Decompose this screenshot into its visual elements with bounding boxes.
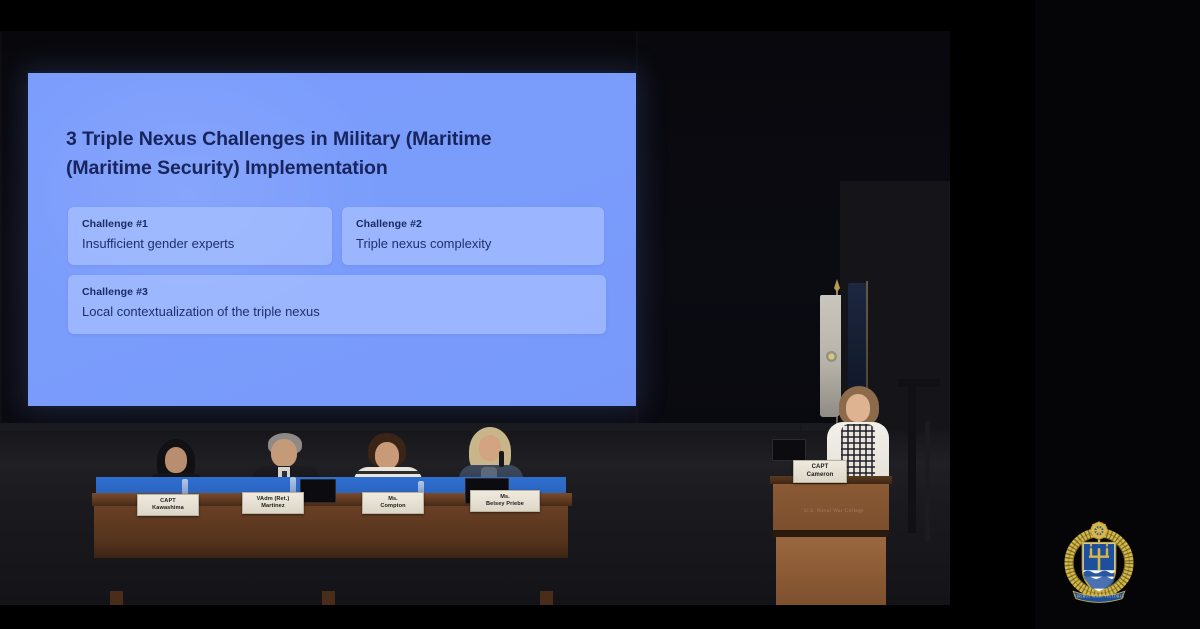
panelist-1-head bbox=[165, 447, 187, 473]
challenge-card-1: Challenge #1 Insufficient gender experts bbox=[68, 207, 332, 265]
nameplate-4-line-2: Belsey Priebe bbox=[473, 501, 537, 508]
presentation-slide: 3 Triple Nexus Challenges in Military (M… bbox=[28, 73, 636, 406]
nameplate-compton: Ms. Compton bbox=[362, 492, 424, 514]
stage-truss-vertical bbox=[908, 383, 916, 533]
challenge-card-2: Challenge #2 Triple nexus complexity bbox=[342, 207, 604, 265]
flag-seal-emblem bbox=[826, 351, 837, 362]
nameplate-2-line-1: VAdm (Ret.) bbox=[245, 496, 301, 503]
video-right-mask bbox=[950, 0, 1035, 629]
nameplate-cameron: CAPT Cameron bbox=[793, 460, 847, 483]
challenge-1-label: Challenge #1 bbox=[82, 218, 318, 230]
podium-nameplate-line-1: CAPT bbox=[796, 464, 844, 472]
table-leg-right bbox=[540, 591, 553, 605]
podium-upper-body: U.S. Naval War College bbox=[773, 484, 889, 530]
table-leg-left bbox=[110, 591, 123, 605]
nameplate-martinez: VAdm (Ret.) Martinez bbox=[242, 492, 304, 514]
video-player-area[interactable]: 3 Triple Nexus Challenges in Military (M… bbox=[0, 0, 1035, 629]
ships-wheel-icon bbox=[1090, 521, 1108, 539]
nameplate-1-line-2: Kawashima bbox=[140, 505, 196, 512]
panelist-4-head bbox=[479, 435, 501, 461]
challenge-2-text: Triple nexus complexity bbox=[356, 236, 590, 252]
letterbox-top bbox=[0, 0, 1035, 31]
challenge-1-text: Insufficient gender experts bbox=[82, 236, 318, 252]
slide-title: 3 Triple Nexus Challenges in Military (M… bbox=[66, 125, 586, 183]
video-screenshot: 3 Triple Nexus Challenges in Military (M… bbox=[0, 0, 1200, 629]
challenge-card-group: Challenge #1 Insufficient gender experts… bbox=[68, 207, 606, 334]
nameplate-1-line-1: CAPT bbox=[140, 498, 196, 505]
auditorium-scene: 3 Triple Nexus Challenges in Military (M… bbox=[0, 31, 950, 605]
handheld-microphone bbox=[499, 451, 504, 467]
challenge-3-text: Local contextualization of the triple ne… bbox=[82, 304, 592, 320]
podium-base bbox=[776, 537, 886, 605]
stage-truss-horizontal bbox=[898, 379, 940, 387]
nameplate-kawashima: CAPT Kawashima bbox=[137, 494, 199, 516]
podium-laptop bbox=[772, 439, 806, 461]
nameplate-2-line-2: Martinez bbox=[245, 503, 301, 510]
svg-text:VIRIBUS MARI VICTORIA: VIRIBUS MARI VICTORIA bbox=[1074, 594, 1124, 598]
nameplate-3-line-2: Compton bbox=[365, 503, 421, 510]
slide-title-line-2: (Maritime Security) Implementation bbox=[66, 154, 586, 183]
challenge-3-label: Challenge #3 bbox=[82, 286, 592, 298]
nameplate-3-line-1: Ms. bbox=[365, 496, 421, 503]
right-sidebar-panel: VIRIBUS MARI VICTORIA bbox=[1035, 0, 1200, 629]
speaker-head bbox=[846, 394, 870, 422]
podium-engraving-text: U.S. Naval War College bbox=[781, 508, 887, 514]
nameplate-4-line-1: Ms. bbox=[473, 494, 537, 501]
challenge-2-label: Challenge #2 bbox=[356, 218, 590, 230]
projection-screen: 3 Triple Nexus Challenges in Military (M… bbox=[26, 71, 638, 408]
table-leg-center bbox=[322, 591, 335, 605]
letterbox-bottom bbox=[0, 605, 1035, 629]
nameplate-belsey-priebe: Ms. Belsey Priebe bbox=[470, 490, 540, 512]
panelist-3-head bbox=[375, 442, 399, 469]
us-naval-war-college-seal: VIRIBUS MARI VICTORIA bbox=[1053, 515, 1145, 607]
podium: U.S. Naval War College bbox=[770, 476, 892, 605]
slide-title-line-1: 3 Triple Nexus Challenges in Military (M… bbox=[66, 125, 586, 154]
seal-svg: VIRIBUS MARI VICTORIA bbox=[1053, 515, 1145, 607]
panelist-2-head bbox=[271, 439, 297, 467]
podium-trim-band bbox=[773, 530, 889, 537]
challenge-card-3: Challenge #3 Local contextualization of … bbox=[68, 275, 606, 333]
laptop-1 bbox=[300, 479, 336, 503]
podium-nameplate-line-2: Cameron bbox=[796, 472, 844, 480]
stage-stand-pole bbox=[925, 421, 930, 541]
challenge-card-row: Challenge #1 Insufficient gender experts… bbox=[68, 207, 606, 265]
